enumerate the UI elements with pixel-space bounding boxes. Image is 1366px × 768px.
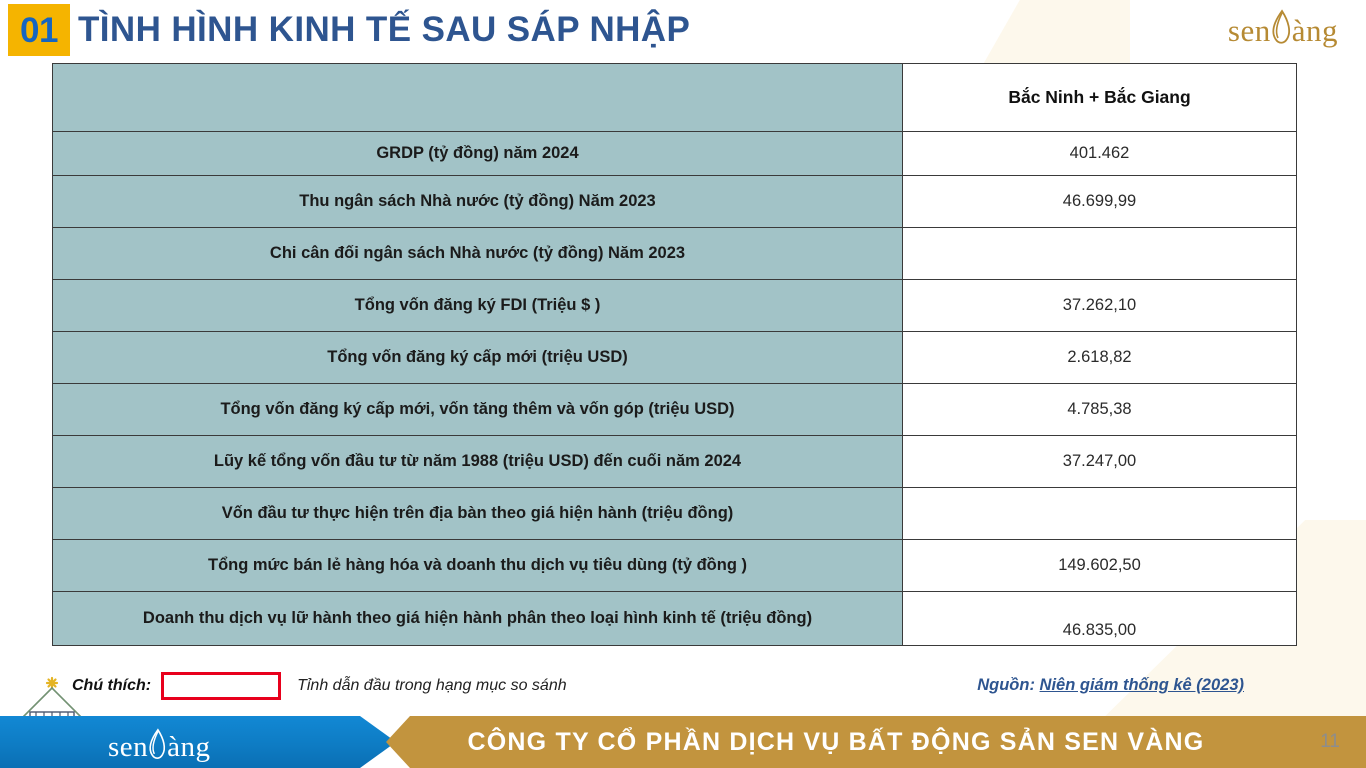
brand-logo-text-left: sen [1228,15,1271,46]
table-header-blank-cell [53,64,903,132]
table-row: Tổng mức bán lẻ hàng hóa và doanh thu dị… [53,540,1297,592]
table-row: GRDP (tỷ đồng) năm 2024 401.462 [53,132,1297,176]
row-value: 37.247,00 [903,436,1297,488]
row-label: Tổng vốn đăng ký FDI (Triệu $ ) [53,280,903,332]
source-prefix: Nguồn: [977,676,1039,694]
row-label: Vốn đầu tư thực hiện trên địa bàn theo g… [53,488,903,540]
row-value: 46.699,99 [903,176,1297,228]
brand-logo-text-right: àng [1292,15,1338,46]
source-link[interactable]: Niên giám thống kê (2023) [1040,676,1244,694]
brand-logo: sen àng [1228,12,1338,48]
row-value [903,228,1297,280]
bottom-bar: sen àng CÔNG TY CỔ PHẦN DỊCH VỤ BẤT ĐỘNG… [0,716,1366,768]
bottom-brand-logo-text-right: àng [167,733,210,762]
row-label: Lũy kế tổng vốn đầu tư từ năm 1988 (triệ… [53,436,903,488]
slide-header: 01 TÌNH HÌNH KINH TẾ SAU SÁP NHẬP [0,0,1366,58]
table-row: Tổng vốn đăng ký cấp mới (triệu USD) 2.6… [53,332,1297,384]
row-value: 37.262,10 [903,280,1297,332]
legend-group: Chú thích: Tỉnh dẫn đầu trong hạng mục s… [72,672,567,700]
company-name: CÔNG TY CỔ PHẦN DỊCH VỤ BẤT ĐỘNG SẢN SEN… [386,716,1286,768]
lotus-petal-icon [145,728,169,767]
bottom-brand-logo: sen àng [108,728,211,767]
legend-description: Tỉnh dẫn đầu trong hạng mục so sánh [297,677,567,695]
table-row: Thu ngân sách Nhà nước (tỷ đồng) Năm 202… [53,176,1297,228]
page-title: TÌNH HÌNH KINH TẾ SAU SÁP NHẬP [78,7,690,53]
row-value: 149.602,50 [903,540,1297,592]
table-header-row: Bắc Ninh + Bắc Giang [53,64,1297,132]
footnote-row: Chú thích: Tỉnh dẫn đầu trong hạng mục s… [52,668,1296,708]
row-label: Tổng vốn đăng ký cấp mới, vốn tăng thêm … [53,384,903,436]
row-value: 401.462 [903,132,1297,176]
row-value: 46.835,00 [903,592,1297,646]
economy-comparison-table: Bắc Ninh + Bắc Giang GRDP (tỷ đồng) năm … [52,63,1297,646]
legend-label: Chú thích: [72,677,151,695]
legend-color-swatch [161,672,281,700]
table-row: Doanh thu dịch vụ lữ hành theo giá hiện … [53,592,1297,646]
page-number: 11 [1320,716,1340,768]
table-row: Tổng vốn đăng ký cấp mới, vốn tăng thêm … [53,384,1297,436]
row-value: 2.618,82 [903,332,1297,384]
row-label: Tổng mức bán lẻ hàng hóa và doanh thu dị… [53,540,903,592]
section-number-badge: 01 [8,4,70,56]
row-label: Tổng vốn đăng ký cấp mới (triệu USD) [53,332,903,384]
table-row: Vốn đầu tư thực hiện trên địa bàn theo g… [53,488,1297,540]
source-citation: Nguồn: Niên giám thống kê (2023) [977,676,1244,695]
row-label: Chi cân đối ngân sách Nhà nước (tỷ đồng)… [53,228,903,280]
table-row: Tổng vốn đăng ký FDI (Triệu $ ) 37.262,1… [53,280,1297,332]
bottom-brand-logo-text-left: sen [108,733,148,762]
section-number-text: 01 [20,13,58,48]
row-label: Doanh thu dịch vụ lữ hành theo giá hiện … [53,592,903,646]
lotus-petal-icon [1268,9,1294,52]
table-header-region-cell: Bắc Ninh + Bắc Giang [903,64,1297,132]
table-row: Chi cân đối ngân sách Nhà nước (tỷ đồng)… [53,228,1297,280]
row-label: Thu ngân sách Nhà nước (tỷ đồng) Năm 202… [53,176,903,228]
table-row: Lũy kế tổng vốn đầu tư từ năm 1988 (triệ… [53,436,1297,488]
economy-table-container: Bắc Ninh + Bắc Giang GRDP (tỷ đồng) năm … [52,63,1296,646]
row-value: 4.785,38 [903,384,1297,436]
row-value [903,488,1297,540]
row-label: GRDP (tỷ đồng) năm 2024 [53,132,903,176]
